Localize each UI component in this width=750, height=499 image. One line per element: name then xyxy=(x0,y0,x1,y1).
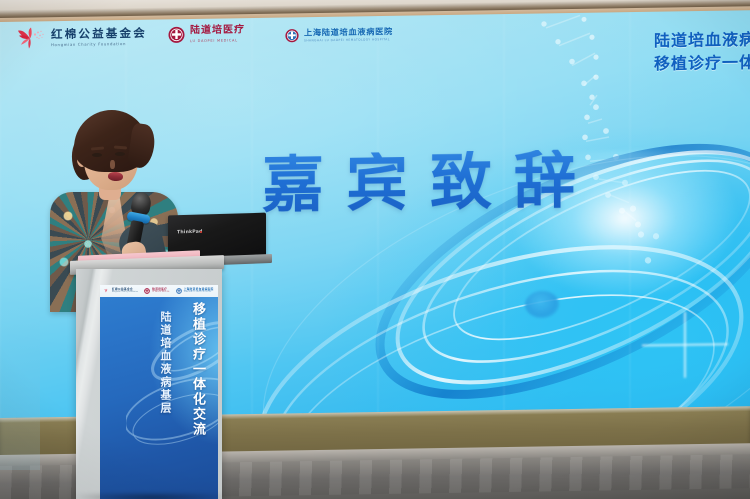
slogan-line-2: 移植诊疗一体 xyxy=(654,52,750,76)
kapok-flower-icon xyxy=(16,26,46,50)
podium-mini-logo-2: 陆道培医疗 LU DAOPEI MEDICAL xyxy=(144,288,169,294)
logo-hongmian-charity-foundation: 红棉公益基金会 Hongmian Charity Foundation xyxy=(16,25,147,51)
kapok-flower-icon xyxy=(104,288,110,294)
screen-main-title: 嘉宾致辞 xyxy=(262,149,598,216)
podium-banner-text-right: 移植诊疗一体化交流 xyxy=(189,302,206,437)
medical-cross-icon xyxy=(285,29,299,43)
photo-frame: 红棉公益基金会 Hongmian Charity Foundation 陆道培医… xyxy=(0,0,750,499)
podium-mini-logo-1: 红棉公益基金会 Hongmian Charity Foundation xyxy=(104,288,138,294)
podium-banner: 红棉公益基金会 Hongmian Charity Foundation 陆道培医… xyxy=(100,285,218,499)
logo-cn-text: 上海陆道培血液病医院 xyxy=(304,27,397,37)
logo-en-text: LU DAOPEI MEDICAL xyxy=(190,38,241,42)
logo-cn-text: 红棉公益基金会 xyxy=(51,27,147,40)
podium: 红棉公益基金会 Hongmian Charity Foundation 陆道培医… xyxy=(72,258,222,499)
podium-mini-logo-en: LU DAOPEI MEDICAL xyxy=(152,292,169,293)
podium-shadow xyxy=(72,494,230,499)
logo-en-text: Hongmian Charity Foundation xyxy=(51,42,139,47)
slogan-line-1: 陆道培血液病 xyxy=(654,29,750,53)
medical-cross-icon xyxy=(144,288,150,294)
podium-banner-header: 红棉公益基金会 Hongmian Charity Foundation 陆道培医… xyxy=(100,285,218,297)
medical-cross-icon xyxy=(176,288,182,294)
podium-mini-logo-en: SHANGHAI LU DAOPEI HOSPITAL xyxy=(184,292,214,293)
logo-lu-daopei-medical: 陆道培医疗 LU DAOPEI MEDICAL xyxy=(168,25,245,43)
laptop-brand-dot-icon xyxy=(200,230,202,232)
logo-shanghai-lu-daopei-hospital: 上海陆道培血液病医院 SHANGHAI LU DAOPEI HEMATOLOGY… xyxy=(285,27,397,43)
podium-mini-logo-en: Hongmian Charity Foundation xyxy=(112,292,138,293)
logo-en-text: SHANGHAI LU DAOPEI HEMATOLOGY HOSPITAL xyxy=(304,38,390,42)
speaker-nose xyxy=(110,160,115,169)
speaker-eye-left xyxy=(92,153,102,157)
speaker-hair-tuft xyxy=(127,123,157,170)
medical-cross-icon xyxy=(168,26,185,43)
speaker-mouth xyxy=(108,171,124,181)
left-wall-shade xyxy=(0,300,40,470)
podium-banner-text-left: 陆道培血液病基层 xyxy=(157,311,172,415)
podium-mini-logo-3: 上海陆道培血液病医院 SHANGHAI LU DAOPEI HOSPITAL xyxy=(176,288,214,294)
speaker-eye-right xyxy=(115,152,125,156)
logo-cn-text: 陆道培医疗 xyxy=(190,26,245,37)
screen-slogan: 陆道培血液病 移植诊疗一体 xyxy=(654,29,750,76)
podium-body: 红棉公益基金会 Hongmian Charity Foundation 陆道培医… xyxy=(76,269,222,499)
laptop-brand-label: ThinkPad xyxy=(177,230,203,236)
